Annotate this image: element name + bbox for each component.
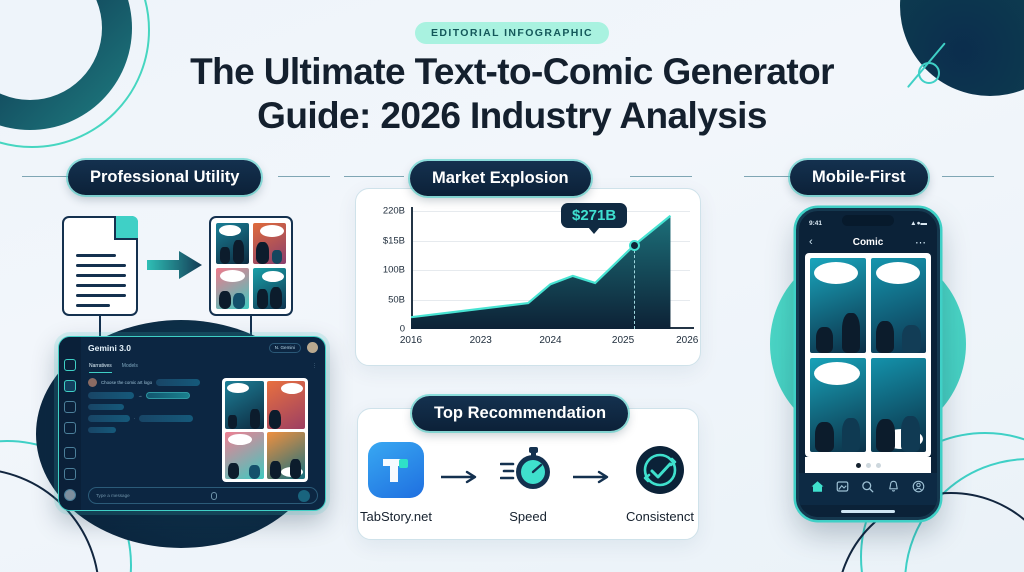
- arrow-right-icon: →: [138, 393, 142, 398]
- speech-bubble-icon: [262, 271, 284, 282]
- comic-panel: [871, 258, 927, 353]
- chat-input-placeholder: Type a message: [96, 493, 130, 498]
- account-pill[interactable]: N. Gemini: [269, 343, 301, 353]
- y-tick-label: 0: [400, 324, 411, 335]
- check-refresh-icon: [632, 442, 688, 498]
- character-silhouette: [256, 242, 269, 264]
- paperclip-icon[interactable]: [211, 492, 217, 500]
- chat-skeleton-row: ·: [88, 415, 216, 422]
- chart-value-tooltip: $271B: [561, 203, 627, 228]
- page-dot-active[interactable]: [856, 463, 861, 468]
- character-silhouette: [902, 325, 921, 353]
- speech-bubble-icon: [219, 225, 241, 236]
- chat-prompt-row: Choose the comic art logo: [88, 378, 216, 387]
- skeleton-bar: [156, 379, 200, 386]
- character-silhouette: [842, 313, 860, 353]
- y-tick-label: 100B: [383, 265, 411, 276]
- chat-tabs[interactable]: Narratives Models ⋮: [81, 358, 325, 373]
- x-tick-label: 2024: [539, 335, 561, 346]
- bell-icon[interactable]: [886, 479, 901, 499]
- document-text-line: [76, 304, 110, 307]
- character-silhouette: [270, 461, 281, 479]
- comic-panel: [253, 268, 286, 309]
- page-title-line-2: Guide: 2026 Industry Analysis: [0, 94, 1024, 138]
- character-silhouette: [228, 415, 237, 429]
- chart-plot-area: 220B $15B 100B 50B 0: [356, 189, 700, 365]
- comic-panel: [267, 432, 306, 480]
- page-indicator-dots[interactable]: [805, 457, 931, 473]
- document-text-line: [76, 254, 116, 257]
- character-silhouette: [249, 465, 260, 479]
- speech-bubble-icon: [228, 434, 252, 445]
- comic-panel: [267, 381, 306, 429]
- skeleton-bar: [88, 404, 124, 410]
- status-time: 9:41: [809, 220, 822, 227]
- recommendation-item-consistency[interactable]: Consistenct: [621, 442, 699, 524]
- document-fold-icon: [114, 216, 138, 240]
- character-silhouette: [816, 327, 833, 353]
- character-silhouette: [290, 459, 301, 479]
- more-horizontal-icon[interactable]: ⋯: [915, 236, 927, 249]
- chat-body: Choose the comic art logo → ·: [81, 373, 325, 487]
- eyebrow-badge: EDITORIAL INFOGRAPHIC: [415, 22, 609, 44]
- speech-bubble-icon: [876, 262, 920, 284]
- image-icon[interactable]: [835, 479, 850, 499]
- x-tick-label: 2023: [470, 335, 492, 346]
- character-silhouette: [233, 293, 245, 309]
- comic-panel: [216, 223, 249, 264]
- character-silhouette: [233, 240, 244, 264]
- recommendation-item-speed[interactable]: Speed: [489, 442, 567, 524]
- document-text-line: [76, 264, 126, 267]
- character-silhouette: [250, 409, 260, 429]
- chat-icon[interactable]: [64, 401, 76, 413]
- chat-header: Gemini 3.0 N. Gemini: [81, 337, 325, 358]
- section-badge-top-recommendation[interactable]: Top Recommendation: [412, 396, 628, 431]
- phone-nav-title: Comic: [853, 237, 884, 248]
- comic-panel: [810, 358, 866, 453]
- chat-main-area: Gemini 3.0 N. Gemini Narratives Models ⋮…: [81, 337, 325, 510]
- tabstory-logo-icon: [368, 442, 424, 498]
- chat-app-mockup[interactable]: Gemini 3.0 N. Gemini Narratives Models ⋮…: [58, 336, 326, 511]
- character-silhouette: [220, 247, 230, 264]
- home-indicator: [799, 505, 937, 517]
- chart-axes: 220B $15B 100B 50B 0: [411, 211, 690, 329]
- avatar-icon[interactable]: [64, 489, 76, 501]
- comic-panel: [810, 258, 866, 353]
- document-text-line: [76, 294, 126, 297]
- arrow-right-gradient-icon: [145, 248, 205, 282]
- x-tick-label: 2016: [400, 335, 422, 346]
- left-badge-rule-end: [278, 176, 330, 177]
- speech-bubble-icon: [814, 362, 860, 385]
- signal-wifi-battery-icon: ▲●▬: [910, 220, 927, 227]
- y-tick-label: 50B: [388, 294, 411, 305]
- market-chart-card: 220B $15B 100B 50B 0: [355, 188, 701, 366]
- home-icon[interactable]: [810, 479, 825, 499]
- speech-bubble-icon: [220, 270, 245, 282]
- comic-panel: [253, 223, 286, 264]
- skeleton-bar: [88, 415, 130, 422]
- document-icon: [62, 216, 138, 316]
- bookmark-icon[interactable]: [64, 422, 76, 434]
- phone-tab-bar[interactable]: [799, 473, 937, 505]
- speech-bubble-icon: [814, 262, 858, 284]
- library-icon[interactable]: [64, 380, 76, 392]
- section-badge-market-explosion[interactable]: Market Explosion: [410, 161, 591, 196]
- chat-message-column: Choose the comic art logo → ·: [88, 378, 216, 482]
- y-tick-label: 220B: [383, 206, 411, 217]
- character-silhouette: [270, 287, 282, 309]
- phone-mockup[interactable]: 9:41 ▲●▬ ‹ Comic ⋯: [796, 208, 940, 520]
- phone-notch: [842, 215, 894, 226]
- phone-comic-page[interactable]: [805, 253, 931, 457]
- skeleton-bar: [139, 415, 193, 422]
- search-icon[interactable]: [860, 479, 875, 499]
- bell-icon[interactable]: [64, 447, 76, 459]
- comic-panel: [216, 268, 249, 309]
- right-badge-rule-end: [942, 176, 994, 177]
- tab-models[interactable]: Models: [122, 363, 138, 373]
- arrow-right-icon: [573, 470, 615, 489]
- comic-panel: [871, 358, 927, 453]
- chart-area-series: [411, 211, 690, 329]
- character-silhouette: [269, 410, 281, 429]
- page-dot[interactable]: [866, 463, 871, 468]
- profile-icon[interactable]: [911, 479, 926, 499]
- chat-skeleton-row: →: [88, 392, 216, 399]
- recommendation-flow: TabStory.net: [357, 442, 699, 524]
- section-badge-mobile-first[interactable]: Mobile-First: [790, 160, 928, 195]
- comic-panel: [225, 432, 264, 480]
- character-silhouette: [257, 289, 268, 309]
- center-badge-rule-start: [344, 176, 404, 177]
- character-silhouette: [876, 321, 894, 353]
- section-badge-professional-utility[interactable]: Professional Utility: [68, 160, 261, 195]
- chevron-left-icon[interactable]: ‹: [809, 236, 813, 248]
- infographic-canvas: EDITORIAL INFOGRAPHIC The Ultimate Text-…: [0, 0, 1024, 572]
- chart-marker-guide-line: [634, 245, 635, 329]
- comic-grid-icon: [209, 216, 293, 316]
- right-badge-rule-start: [744, 176, 796, 177]
- chat-app-title: Gemini 3.0: [88, 343, 131, 353]
- character-silhouette: [842, 418, 860, 452]
- skeleton-bar: [88, 427, 116, 433]
- page-title-line-1: The Ultimate Text-to-Comic Generator: [0, 50, 1024, 94]
- tab-narratives[interactable]: Narratives: [89, 363, 112, 373]
- center-badge-rule-end: [630, 176, 692, 177]
- x-tick-label: 2025: [612, 335, 634, 346]
- chat-rail-bottom-group[interactable]: [64, 447, 76, 510]
- avatar[interactable]: [307, 342, 318, 353]
- skeleton-bar-accent: [146, 392, 190, 399]
- settings-icon[interactable]: [64, 468, 76, 480]
- recommendation-item-tabstory[interactable]: TabStory.net: [357, 442, 435, 524]
- speech-bubble-icon: [281, 383, 303, 394]
- send-icon[interactable]: [298, 490, 310, 502]
- recommendation-label: Speed: [489, 509, 567, 524]
- speech-bubble-icon: [227, 383, 249, 393]
- x-tick-label: 2026: [676, 335, 698, 346]
- chat-comic-preview[interactable]: [222, 378, 308, 482]
- speech-bubble-icon: [260, 225, 284, 237]
- skeleton-bar: [88, 392, 134, 399]
- comic-panel: [225, 381, 264, 429]
- character-silhouette: [815, 422, 834, 452]
- character-silhouette: [228, 463, 239, 479]
- arrow-right-icon: [441, 470, 483, 489]
- chat-message-input[interactable]: Type a message: [88, 487, 318, 504]
- character-silhouette: [219, 291, 231, 309]
- chat-sidebar-rail[interactable]: [59, 337, 81, 510]
- recommendation-label: TabStory.net: [357, 509, 435, 524]
- kebab-menu-icon[interactable]: ⋮: [312, 363, 317, 373]
- phone-nav-bar: ‹ Comic ⋯: [799, 231, 937, 253]
- separator-dot: ·: [134, 416, 135, 421]
- character-silhouette: [901, 416, 920, 452]
- stopwatch-icon: [500, 442, 556, 498]
- y-tick-label: $15B: [383, 235, 411, 246]
- chart-data-point-marker[interactable]: [629, 240, 640, 251]
- character-silhouette: [876, 419, 895, 452]
- page-title: The Ultimate Text-to-Comic Generator Gui…: [0, 50, 1024, 137]
- avatar: [88, 378, 97, 387]
- document-text-line: [76, 274, 126, 277]
- page-dot[interactable]: [876, 463, 881, 468]
- plus-icon[interactable]: [64, 359, 76, 371]
- chat-prompt-text: Choose the comic art logo: [101, 380, 152, 385]
- recommendation-label: Consistenct: [621, 509, 699, 524]
- character-silhouette: [272, 250, 282, 264]
- document-text-line: [76, 284, 126, 287]
